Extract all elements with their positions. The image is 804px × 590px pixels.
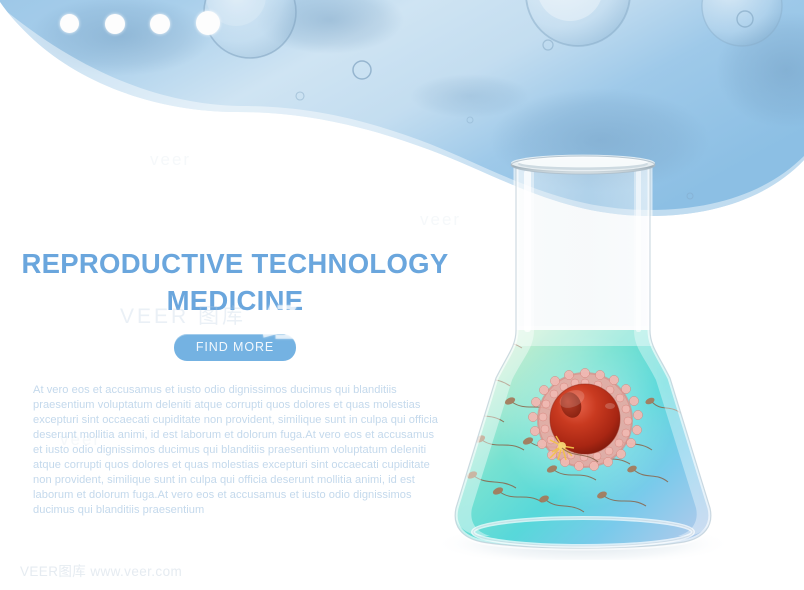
- decor-dot: [196, 11, 220, 35]
- poster-canvas: REPRODUCTIVE TECHNOLOGY MEDICINE FIND MO…: [0, 0, 804, 590]
- watermark-bottom-text: VEER图库 www.veer.com: [20, 560, 182, 580]
- decor-dot: [105, 14, 125, 34]
- flask-rim: [511, 155, 655, 174]
- hero-body-text: At vero eos et accusamus et iusto odio d…: [0, 383, 470, 519]
- find-more-button[interactable]: FIND MORE: [174, 334, 296, 361]
- page-title: REPRODUCTIVE TECHNOLOGY MEDICINE: [0, 246, 470, 320]
- page-title-line-1: REPRODUCTIVE TECHNOLOGY: [21, 248, 448, 279]
- erlenmeyer-flask-illustration: [438, 140, 728, 560]
- page-title-line-2: MEDICINE: [8, 283, 462, 320]
- decor-dot: [150, 14, 170, 34]
- hero-copy: REPRODUCTIVE TECHNOLOGY MEDICINE FIND MO…: [0, 246, 470, 519]
- decor-dot: [60, 14, 79, 33]
